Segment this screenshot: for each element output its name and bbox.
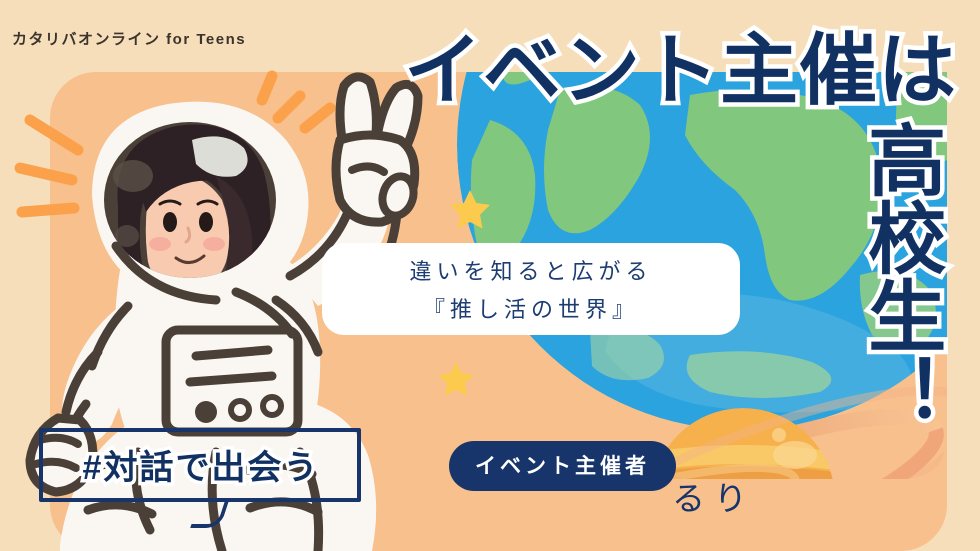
subtitle-line-2: 『推し活の世界』 <box>423 292 639 324</box>
subtitle-line-1: 違いを知ると広がる <box>409 254 652 286</box>
role-badge: イベント主催者 <box>449 441 676 491</box>
headline-horizontal: イベント主催は <box>404 32 957 108</box>
headline-vertical: 高校生！ <box>862 120 939 432</box>
flyer-canvas: カタリバオンライン for Teens イベント主催は 高校生！ 違いを知ると広… <box>0 0 980 551</box>
subtitle-card: 違いを知ると広がる 『推し活の世界』 <box>322 243 740 335</box>
hashtag-label: #対話で出会う <box>56 440 346 489</box>
presenter-name: るり <box>672 472 756 520</box>
brand-logo: カタリバオンライン for Teens <box>12 28 246 49</box>
